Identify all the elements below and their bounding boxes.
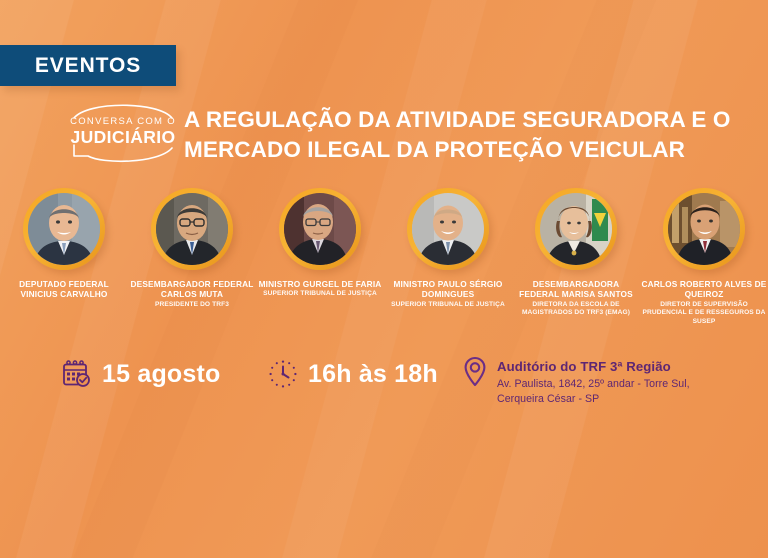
speaker-role: SUPERIOR TRIBUNAL DE JUSTIÇA [385,301,511,310]
speaker-portrait-wrap [23,188,105,270]
speaker-name: DESEMBARGADORA FEDERAL MARISA SANTOS [513,279,639,300]
speakers-row: DEPUTADO FEDERAL VINICIUS CARVALHO [0,188,768,326]
event-time-item: 16h às 18h [268,359,438,389]
speaker-portrait-wrap [663,188,745,270]
speaker-portrait-wrap [279,188,361,270]
speaker-role: DIRETORA DA ESCOLA DE MAGISTRADOS DO TRF… [513,301,639,318]
speaker-name: DEPUTADO FEDERAL VINICIUS CARVALHO [1,279,127,300]
event-poster: EVENTOS CONVERSA COM O JUDICIÁRIO A REGU… [0,0,768,558]
speaker-photo-paulo-sergio-domingues [412,193,484,265]
speaker-photo-carlos-muta [156,193,228,265]
clock-icon [268,359,298,389]
event-date-text: 15 agosto [102,360,221,389]
speaker-portrait-wrap [535,188,617,270]
venue-address-line-2: Cerqueira César - SP [497,392,690,406]
event-title: A REGULAÇÃO DA ATIVIDADE SEGURADORA E O … [184,105,759,164]
speaker-card: DEPUTADO FEDERAL VINICIUS CARVALHO [0,188,128,326]
speaker-photo-vinicius-carvalho [28,193,100,265]
speaker-card: CARLOS ROBERTO ALVES DE QUEIROZ DIRETOR … [640,188,768,326]
speaker-name: MINISTRO GURGEL DE FARIA [257,279,383,289]
speaker-photo-gurgel-de-faria [284,193,356,265]
speaker-portrait-wrap [151,188,233,270]
venue-name: Auditório do TRF 3ª Região [497,359,690,376]
speaker-role: PRESIDENTE DO TRF3 [129,301,255,310]
map-pin-icon [462,355,488,389]
speaker-name: CARLOS ROBERTO ALVES DE QUEIROZ [641,279,767,300]
venue-address-line-1: Av. Paulista, 1842, 25º andar - Torre Su… [497,377,690,391]
speaker-portrait-wrap [407,188,489,270]
speaker-card: DESEMBARGADOR FEDERAL CARLOS MUTA PRESID… [128,188,256,326]
speaker-photo-carlos-roberto-alves-de-queiroz [668,193,740,265]
event-info-bar: 15 agosto 16h às 18h [0,355,768,415]
eventos-banner-label: EVENTOS [35,54,141,78]
speaker-name: MINISTRO PAULO SÉRGIO DOMINGUES [385,279,511,300]
event-date-item: 15 agosto [62,359,221,389]
event-time-text: 16h às 18h [308,360,438,389]
logo-line-2: JUDICIÁRIO [62,127,184,148]
eventos-banner: EVENTOS [0,45,176,86]
speaker-role: SUPERIOR TRIBUNAL DE JUSTIÇA [257,290,383,299]
speaker-card: DESEMBARGADORA FEDERAL MARISA SANTOS DIR… [512,188,640,326]
speaker-photo-marisa-santos [540,193,612,265]
speaker-card: MINISTRO PAULO SÉRGIO DOMINGUES SUPERIOR… [384,188,512,326]
event-place-text: Auditório do TRF 3ª Região Av. Paulista,… [497,355,690,406]
calendar-check-icon [62,359,92,389]
speaker-role: DIRETOR DE SUPERVISÃO PRUDENCIAL E DE RE… [641,301,767,327]
speaker-card: MINISTRO GURGEL DE FARIA SUPERIOR TRIBUN… [256,188,384,326]
conversa-com-o-judiciario-logo: CONVERSA COM O JUDICIÁRIO [62,96,184,168]
event-place-item: Auditório do TRF 3ª Região Av. Paulista,… [462,355,690,406]
logo-line-1: CONVERSA COM O [62,116,184,127]
speaker-name: DESEMBARGADOR FEDERAL CARLOS MUTA [129,279,255,300]
